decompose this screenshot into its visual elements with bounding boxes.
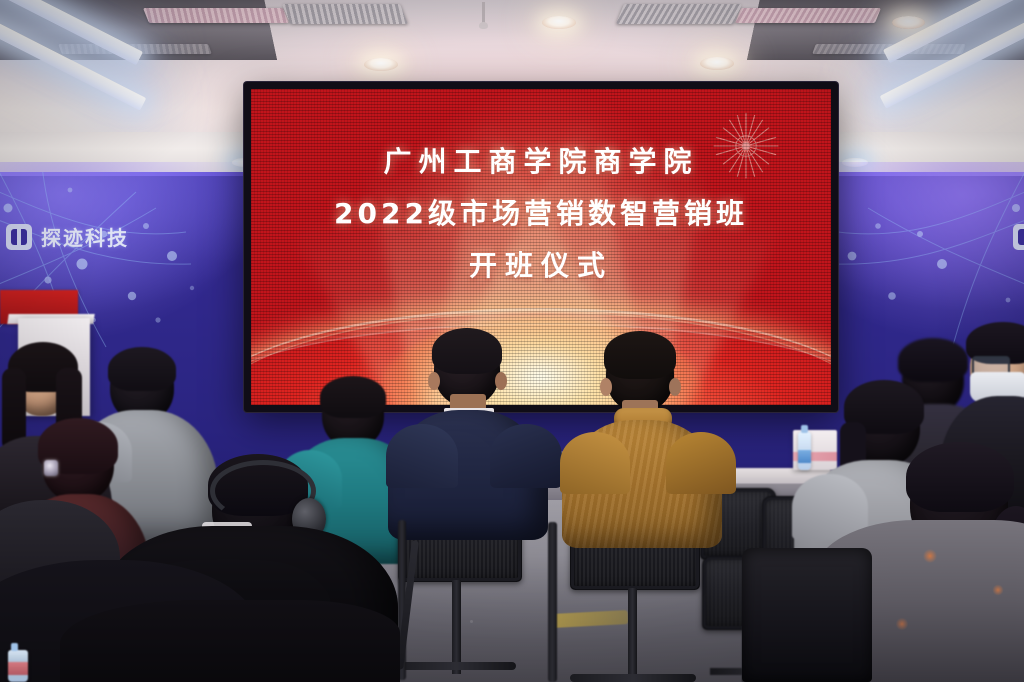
ear [495,372,507,390]
ear [428,372,440,390]
hair [108,347,176,391]
water-bottle [798,432,811,470]
water-bottle [8,650,28,682]
ceiling-sprinkler [479,22,488,29]
screen-title-line-2: 2022级市场营销数智营销班 [251,192,831,232]
recessed-downlight [542,16,576,29]
mesh-back-chair [742,548,872,682]
hair [432,328,502,374]
brand-lockup-right: 探 [1013,222,1024,251]
screen-title-line-1: 广州工商学院商学院 [251,140,831,180]
hair [906,442,1014,512]
screen-surface: 广州工商学院商学院 2022级市场营销数智营销班 开班仪式 [251,89,831,405]
recessed-downlight [700,57,734,70]
hair [898,338,968,382]
ear [669,378,681,396]
shoulder-right [490,424,562,488]
shoulder-left [560,432,630,494]
ear [600,378,612,396]
hvac-diffuser-vent [143,8,289,23]
tungee-logo-mark [6,224,32,250]
conference-room-photo: 探迹科技 探 有 对 [0,0,1024,682]
led-stage-screen: 广州工商学院商学院 2022级市场营销数智营销班 开班仪式 [244,82,838,412]
hair-clip [44,460,58,476]
screen-title-line-3: 开班仪式 [251,244,831,284]
screen-title-block: 广州工商学院商学院 2022级市场营销数智营销班 开班仪式 [251,140,831,284]
hair [604,331,676,379]
recessed-downlight [364,58,398,71]
bottle-label [8,662,28,675]
recessed-downlight [892,16,925,29]
hvac-diffuser-vent [616,4,742,24]
hair [320,376,386,418]
brand-name-left: 探迹科技 [41,222,129,251]
tungee-logo-mark [1013,224,1024,250]
shoulder-left [386,424,458,488]
foreground-silhouette [60,600,400,682]
brand-lockup-left: 探迹科技 [6,222,129,251]
chair-leg [548,522,557,682]
bottle-label [798,450,811,463]
hvac-diffuser-vent [282,4,408,24]
ceiling-sprinkler [482,2,485,24]
hvac-diffuser-vent [735,8,881,23]
shoulder-right [666,432,736,494]
